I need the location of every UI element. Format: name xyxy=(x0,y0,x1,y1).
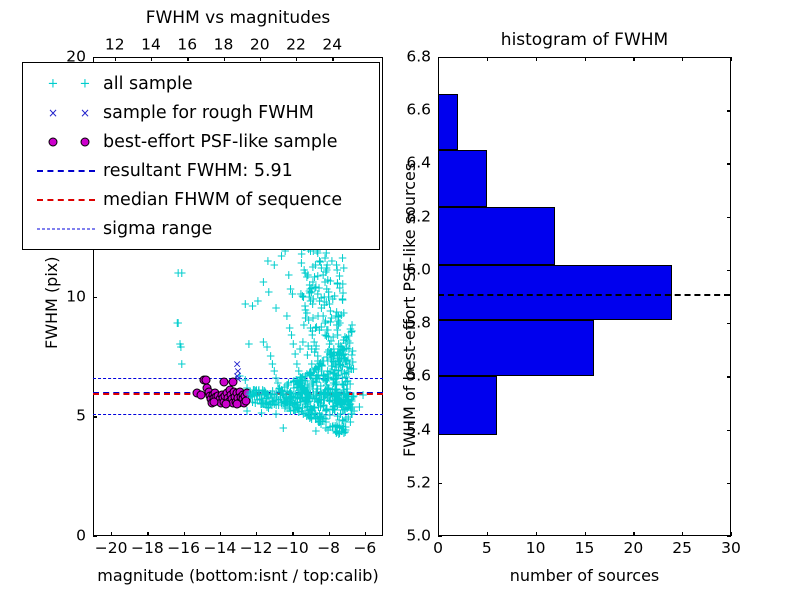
hist-y-ticklabel: 5.0 xyxy=(406,528,431,544)
all-sample-point: + xyxy=(349,363,359,375)
all-sample-point: + xyxy=(321,405,331,417)
all-sample-point: + xyxy=(331,356,341,368)
all-sample-point: + xyxy=(242,405,252,417)
all-sample-point: + xyxy=(317,359,327,371)
legend-item-label: best-effort PSF-like sample xyxy=(103,132,338,152)
all-sample-point: + xyxy=(333,352,343,364)
all-sample-point: + xyxy=(293,381,303,393)
histogram-bar xyxy=(438,320,594,376)
all-sample-point: + xyxy=(318,400,328,412)
all-sample-point: + xyxy=(293,379,303,391)
all-sample-point: + xyxy=(347,401,357,413)
all-sample-point: + xyxy=(339,353,349,365)
all-sample-point: + xyxy=(297,377,307,389)
all-sample-point: + xyxy=(343,398,353,410)
all-sample-point: + xyxy=(314,282,324,294)
all-sample-point: + xyxy=(322,264,332,276)
all-sample-point: + xyxy=(330,373,340,385)
all-sample-point: + xyxy=(317,360,327,372)
rough-fwhm-point: × xyxy=(232,370,241,381)
all-sample-point: + xyxy=(325,348,335,360)
all-sample-point: + xyxy=(268,395,278,407)
all-sample-point: + xyxy=(336,309,346,321)
hist-x-tick-top xyxy=(585,57,586,61)
all-sample-point: + xyxy=(292,403,302,415)
all-sample-point: + xyxy=(334,349,344,361)
all-sample-point: + xyxy=(343,394,353,406)
all-sample-point: + xyxy=(333,319,343,331)
all-sample-point: + xyxy=(345,378,355,390)
all-sample-point: + xyxy=(337,425,347,437)
all-sample-point: + xyxy=(299,291,309,303)
all-sample-point: + xyxy=(262,397,272,409)
all-sample-point: + xyxy=(321,262,331,274)
all-sample-point: + xyxy=(306,369,316,381)
all-sample-point: + xyxy=(333,329,343,341)
legend-item-label: resultant FWHM: 5.91 xyxy=(103,161,293,181)
all-sample-point: + xyxy=(315,411,325,423)
all-sample-point: + xyxy=(342,402,352,414)
all-sample-point: + xyxy=(340,426,350,438)
all-sample-point: + xyxy=(311,321,321,333)
hist-y-ticklabel: 5.2 xyxy=(406,475,431,491)
all-sample-point: + xyxy=(307,343,317,355)
all-sample-point: + xyxy=(320,374,330,386)
sigma-upper-line xyxy=(93,378,383,379)
all-sample-point: + xyxy=(300,267,310,279)
all-sample-point: + xyxy=(332,397,342,409)
all-sample-point: + xyxy=(267,358,277,370)
all-sample-point: + xyxy=(341,355,351,367)
all-sample-point: + xyxy=(314,416,324,428)
all-sample-point: + xyxy=(305,295,315,307)
legend-item-label: all sample xyxy=(103,74,193,94)
all-sample-point: + xyxy=(317,355,327,367)
all-sample-point: + xyxy=(319,355,329,367)
all-sample-point: + xyxy=(340,348,350,360)
psf-sample-point xyxy=(234,399,243,408)
all-sample-point: + xyxy=(281,396,291,408)
all-sample-point: + xyxy=(333,315,343,327)
all-sample-point: + xyxy=(302,349,312,361)
all-sample-point: + xyxy=(258,336,268,348)
all-sample-point: + xyxy=(292,381,302,393)
all-sample-point: + xyxy=(280,398,290,410)
scatter-ylabel: FWHM (pix) xyxy=(42,256,61,349)
all-sample-point: + xyxy=(334,347,344,359)
all-sample-point: + xyxy=(313,288,323,300)
psf-sample-point xyxy=(213,396,222,405)
all-sample-point: + xyxy=(313,401,323,413)
all-sample-point: + xyxy=(349,405,359,417)
all-sample-point: + xyxy=(313,270,323,282)
all-sample-point: + xyxy=(257,398,267,410)
psf-sample-point xyxy=(227,395,236,404)
all-sample-point: + xyxy=(319,394,329,406)
all-sample-point: + xyxy=(312,370,322,382)
all-sample-point: + xyxy=(343,335,353,347)
rough-fwhm-point: × xyxy=(233,365,242,376)
all-sample-point: + xyxy=(339,352,349,364)
all-sample-point: + xyxy=(332,306,342,318)
all-sample-point: + xyxy=(308,298,318,310)
all-sample-point: + xyxy=(301,398,311,410)
all-sample-point: + xyxy=(303,269,313,281)
all-sample-point: + xyxy=(247,300,257,312)
all-sample-point: + xyxy=(286,283,296,295)
all-sample-point: + xyxy=(322,283,332,295)
all-sample-point: + xyxy=(316,380,326,392)
all-sample-point: + xyxy=(334,427,344,439)
all-sample-point: + xyxy=(298,291,308,303)
hist-y-tick-right xyxy=(727,217,731,218)
all-sample-point: + xyxy=(328,401,338,413)
all-sample-point: + xyxy=(306,400,316,412)
median-fhwm-line xyxy=(93,393,383,395)
all-sample-point: + xyxy=(326,312,336,324)
x-ticklabel-bottom: −12 xyxy=(240,541,273,557)
plus-icon: ++ xyxy=(31,74,103,94)
all-sample-point: + xyxy=(297,375,307,387)
histogram-title: histogram of FWHM xyxy=(501,30,668,50)
all-sample-point: + xyxy=(343,375,353,387)
x-ticklabel-top: 24 xyxy=(322,38,342,54)
all-sample-point: + xyxy=(344,401,354,413)
all-sample-point: + xyxy=(345,362,355,374)
all-sample-point: + xyxy=(293,401,303,413)
hist-x-ticklabel: 15 xyxy=(575,541,595,557)
all-sample-point: + xyxy=(321,296,331,308)
all-sample-point: + xyxy=(302,307,312,319)
all-sample-point: + xyxy=(335,398,345,410)
all-sample-point: + xyxy=(335,352,345,364)
all-sample-point: + xyxy=(315,256,325,268)
all-sample-point: + xyxy=(335,355,345,367)
all-sample-point: + xyxy=(310,362,320,374)
circle-glyph xyxy=(49,137,58,146)
all-sample-point: + xyxy=(284,395,294,407)
all-sample-point: + xyxy=(291,401,301,413)
all-sample-point: + xyxy=(318,370,328,382)
all-sample-point: + xyxy=(177,267,187,279)
all-sample-point: + xyxy=(328,293,338,305)
all-sample-point: + xyxy=(300,304,310,316)
all-sample-point: + xyxy=(342,342,352,354)
all-sample-point: + xyxy=(257,407,267,419)
hist-x-ticklabel: 5 xyxy=(482,541,492,557)
psf-sample-point xyxy=(232,397,241,406)
all-sample-point: + xyxy=(338,278,348,290)
all-sample-point: + xyxy=(316,418,326,430)
all-sample-point: + xyxy=(276,397,286,409)
all-sample-point: + xyxy=(262,401,272,413)
all-sample-point: + xyxy=(252,394,262,406)
all-sample-point: + xyxy=(326,351,336,363)
all-sample-point: + xyxy=(332,419,342,431)
all-sample-point: + xyxy=(332,319,342,331)
all-sample-point: + xyxy=(323,291,333,303)
all-sample-point: + xyxy=(344,358,354,370)
all-sample-point: + xyxy=(347,363,357,375)
hist-y-tick xyxy=(438,483,442,484)
all-sample-point: + xyxy=(337,378,347,390)
all-sample-point: + xyxy=(345,401,355,413)
all-sample-point: + xyxy=(333,369,343,381)
all-sample-point: + xyxy=(338,334,348,346)
all-sample-point: + xyxy=(271,396,281,408)
all-sample-point: + xyxy=(307,358,317,370)
all-sample-point: + xyxy=(269,259,279,271)
legend-item: sigma range xyxy=(31,214,371,243)
all-sample-point: + xyxy=(341,413,351,425)
all-sample-point: + xyxy=(273,394,283,406)
all-sample-point: + xyxy=(260,398,270,410)
all-sample-point: + xyxy=(342,332,352,344)
all-sample-point: + xyxy=(333,355,343,367)
legend-item-label: sample for rough FWHM xyxy=(103,103,314,123)
all-sample-point: + xyxy=(320,329,330,341)
hist-y-tick-right xyxy=(727,110,731,111)
all-sample-point: + xyxy=(274,399,284,411)
all-sample-point: + xyxy=(283,395,293,407)
all-sample-point: + xyxy=(280,402,290,414)
all-sample-point: + xyxy=(311,281,321,293)
all-sample-point: + xyxy=(284,269,294,281)
figure-canvas: FWHM vs magnitudes magnitude (bottom:isn… xyxy=(0,0,800,600)
all-sample-point: + xyxy=(175,338,185,350)
all-sample-point: + xyxy=(321,266,331,278)
all-sample-point: + xyxy=(328,350,338,362)
all-sample-point: + xyxy=(285,322,295,334)
all-sample-point: + xyxy=(276,250,286,262)
all-sample-point: + xyxy=(250,397,260,409)
x-ticklabel-top: 12 xyxy=(105,38,125,54)
all-sample-point: + xyxy=(247,396,257,408)
all-sample-point: + xyxy=(337,350,347,362)
all-sample-point: + xyxy=(300,394,310,406)
all-sample-point: + xyxy=(262,341,272,353)
all-sample-point: + xyxy=(313,401,323,413)
all-sample-point: + xyxy=(330,394,340,406)
all-sample-point: + xyxy=(334,338,344,350)
all-sample-point: + xyxy=(333,356,343,368)
all-sample-point: + xyxy=(334,343,344,355)
all-sample-point: + xyxy=(305,283,315,295)
all-sample-point: + xyxy=(331,259,341,271)
all-sample-point: + xyxy=(308,379,318,391)
all-sample-point: + xyxy=(300,312,310,324)
hist-y-tick-right xyxy=(727,270,731,271)
hist-y-ticklabel: 6.2 xyxy=(406,209,431,225)
all-sample-point: + xyxy=(310,402,320,414)
all-sample-point: + xyxy=(333,395,343,407)
hist-y-tick-right xyxy=(727,483,731,484)
plus-glyph: + xyxy=(80,76,91,91)
all-sample-point: + xyxy=(330,379,340,391)
all-sample-point: + xyxy=(332,277,342,289)
dashdot-line-icon xyxy=(31,219,103,239)
all-sample-point: + xyxy=(292,399,302,411)
all-sample-point: + xyxy=(280,400,290,412)
all-sample-point: + xyxy=(344,343,354,355)
all-sample-point: + xyxy=(339,262,349,274)
all-sample-point: + xyxy=(301,394,311,406)
all-sample-point: + xyxy=(295,343,305,355)
all-sample-point: + xyxy=(280,381,290,393)
all-sample-point: + xyxy=(326,348,336,360)
all-sample-point: + xyxy=(336,398,346,410)
all-sample-point: + xyxy=(308,405,318,417)
histogram-bar xyxy=(438,150,487,207)
legend-item: resultant FWHM: 5.91 xyxy=(31,156,371,185)
all-sample-point: + xyxy=(314,360,324,372)
all-sample-point: + xyxy=(314,415,324,427)
all-sample-point: + xyxy=(282,396,292,408)
all-sample-point: + xyxy=(256,398,266,410)
hist-y-tick-right xyxy=(727,376,731,377)
all-sample-point: + xyxy=(294,402,304,414)
all-sample-point: + xyxy=(323,324,333,336)
all-sample-point: + xyxy=(331,310,341,322)
all-sample-point: + xyxy=(305,367,315,379)
all-sample-point: + xyxy=(316,410,326,422)
all-sample-point: + xyxy=(340,395,350,407)
all-sample-point: + xyxy=(289,375,299,387)
all-sample-point: + xyxy=(315,358,325,370)
all-sample-point: + xyxy=(316,401,326,413)
psf-sample-point xyxy=(206,395,215,404)
all-sample-point: + xyxy=(336,397,346,409)
all-sample-point: + xyxy=(282,379,292,391)
all-sample-point: + xyxy=(313,350,323,362)
hist-x-tick xyxy=(536,532,537,536)
all-sample-point: + xyxy=(336,365,346,377)
all-sample-point: + xyxy=(316,321,326,333)
all-sample-point: + xyxy=(320,315,330,327)
hist-y-tick xyxy=(438,57,442,58)
circle-icon xyxy=(31,132,103,152)
all-sample-point: + xyxy=(300,370,310,382)
all-sample-point: + xyxy=(291,399,301,411)
x-ticklabel-bottom: −10 xyxy=(276,541,309,557)
all-sample-point: + xyxy=(293,397,303,409)
all-sample-point: + xyxy=(311,425,321,437)
all-sample-point: + xyxy=(323,274,333,286)
scatter-xlabel: magnitude (bottom:isnt / top:calib) xyxy=(97,566,378,585)
all-sample-point: + xyxy=(347,319,357,331)
all-sample-point: + xyxy=(321,416,331,428)
all-sample-point: + xyxy=(303,396,313,408)
hist-x-tick xyxy=(487,532,488,536)
all-sample-point: + xyxy=(302,395,312,407)
all-sample-point: + xyxy=(322,379,332,391)
dashed-line-icon xyxy=(31,161,103,181)
histogram-bar xyxy=(438,94,458,150)
hist-x-tick-top xyxy=(682,57,683,61)
all-sample-point: + xyxy=(329,400,339,412)
all-sample-point: + xyxy=(336,340,346,352)
all-sample-point: + xyxy=(316,302,326,314)
all-sample-point: + xyxy=(328,349,338,361)
all-sample-point: + xyxy=(329,403,339,415)
all-sample-point: + xyxy=(315,415,325,427)
all-sample-point: + xyxy=(296,288,306,300)
all-sample-point: + xyxy=(286,405,296,417)
all-sample-point: + xyxy=(338,287,348,299)
all-sample-point: + xyxy=(286,396,296,408)
all-sample-point: + xyxy=(300,300,310,312)
all-sample-point: + xyxy=(284,400,294,412)
all-sample-point: + xyxy=(332,410,342,422)
all-sample-point: + xyxy=(318,399,328,411)
all-sample-point: + xyxy=(306,407,316,419)
all-sample-point: + xyxy=(304,314,314,326)
scatter-title: FWHM vs magnitudes xyxy=(146,8,331,28)
all-sample-point: + xyxy=(309,366,319,378)
all-sample-point: + xyxy=(307,282,317,294)
all-sample-point: + xyxy=(263,402,273,414)
hist-x-ticklabel: 25 xyxy=(672,541,692,557)
all-sample-point: + xyxy=(310,346,320,358)
hist-y-ticklabel: 6.0 xyxy=(406,262,431,278)
psf-sample-point xyxy=(210,397,219,406)
psf-sample-point xyxy=(216,399,225,408)
all-sample-point: + xyxy=(263,255,273,267)
circle-glyph xyxy=(81,137,90,146)
plus-glyph: + xyxy=(48,76,59,91)
line-sample xyxy=(37,199,95,201)
line-sample xyxy=(37,170,95,172)
all-sample-point: + xyxy=(308,276,318,288)
all-sample-point: + xyxy=(328,331,338,343)
all-sample-point: + xyxy=(308,261,318,273)
all-sample-point: + xyxy=(309,401,319,413)
all-sample-point: + xyxy=(293,378,303,390)
hist-y-ticklabel: 5.8 xyxy=(406,315,431,331)
all-sample-point: + xyxy=(336,352,346,364)
all-sample-point: + xyxy=(321,422,331,434)
histogram-bar xyxy=(438,207,555,264)
all-sample-point: + xyxy=(339,367,349,379)
x-ticklabel-top: 18 xyxy=(214,38,234,54)
all-sample-point: + xyxy=(329,367,339,379)
all-sample-point: + xyxy=(334,355,344,367)
all-sample-point: + xyxy=(325,346,335,358)
all-sample-point: + xyxy=(307,413,317,425)
all-sample-point: + xyxy=(339,349,349,361)
all-sample-point: + xyxy=(299,374,309,386)
all-sample-point: + xyxy=(290,396,300,408)
all-sample-point: + xyxy=(266,350,276,362)
all-sample-point: + xyxy=(311,373,321,385)
all-sample-point: + xyxy=(304,395,314,407)
all-sample-point: + xyxy=(325,338,335,350)
all-sample-point: + xyxy=(334,428,344,440)
all-sample-point: + xyxy=(328,420,338,432)
psf-sample-point xyxy=(215,395,224,404)
all-sample-point: + xyxy=(326,335,336,347)
all-sample-point: + xyxy=(343,396,353,408)
all-sample-point: + xyxy=(304,291,314,303)
all-sample-point: + xyxy=(335,355,345,367)
psf-sample-point xyxy=(242,396,251,405)
all-sample-point: + xyxy=(319,400,329,412)
all-sample-point: + xyxy=(333,310,343,322)
all-sample-point: + xyxy=(269,365,279,377)
cross-glyph: × xyxy=(80,106,90,120)
hist-y-tick-right xyxy=(727,57,731,58)
all-sample-point: + xyxy=(286,396,296,408)
